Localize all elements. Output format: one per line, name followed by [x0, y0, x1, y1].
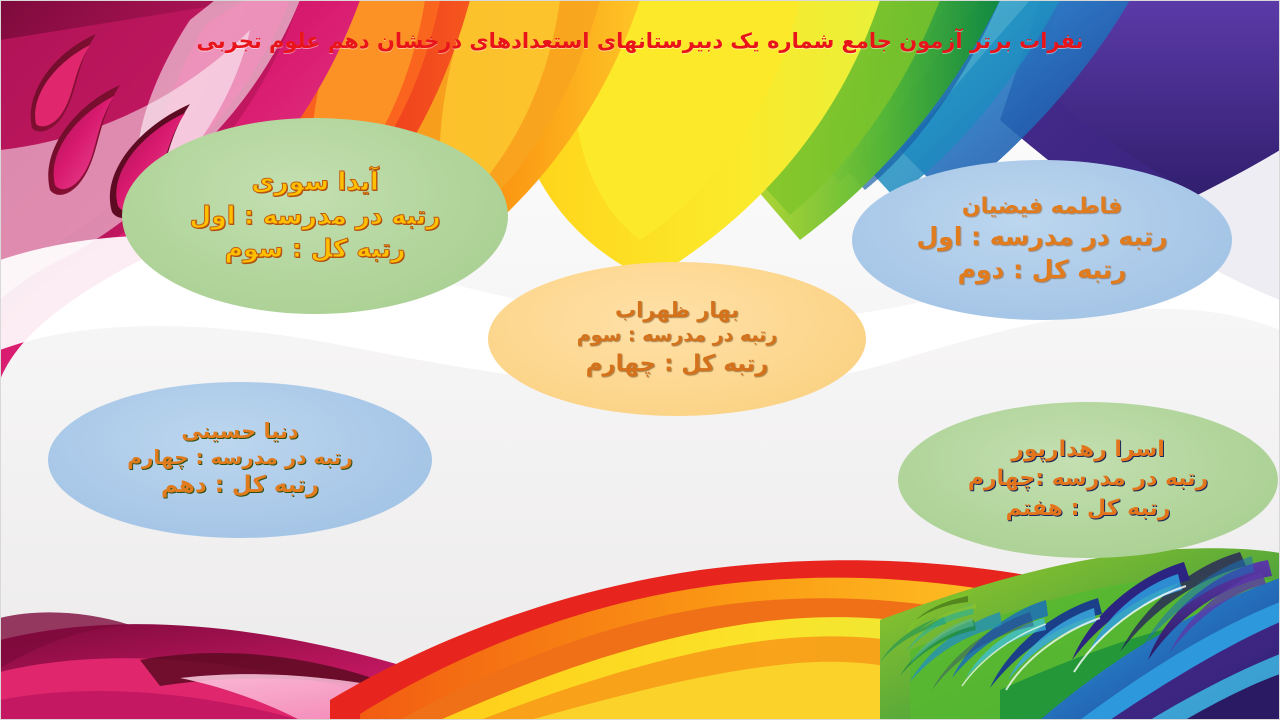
student-name: فاطمه فیضیان — [962, 194, 1122, 219]
student-total-rank: رتبه کل : چهارم — [586, 349, 769, 380]
student-total-rank: رتبه کل : سوم — [225, 232, 406, 265]
student-name: دنیا حسینی — [181, 419, 298, 443]
student-school-rank: رتبه در مدرسه : اول — [916, 221, 1167, 254]
student-card-fatemeh[interactable]: فاطمه فیضیان رتبه در مدرسه : اول رتبه کل… — [852, 160, 1232, 320]
student-card-asra[interactable]: اسرا رهدارپور رتبه در مدرسه :چهارم رتبه … — [898, 402, 1278, 558]
student-card-bahar[interactable]: بهار ظهراب رتبه در مدرسه : سوم رتبه کل :… — [488, 262, 866, 416]
student-card-aida[interactable]: آیدا سوری رتبه در مدرسه : اول رتبه کل : … — [122, 118, 508, 314]
student-school-rank: رتبه در مدرسه : اول — [189, 199, 440, 232]
student-total-rank: رتبه کل : دوم — [958, 254, 1127, 287]
student-school-rank: رتبه در مدرسه :چهارم — [968, 464, 1208, 493]
student-school-rank: رتبه در مدرسه : چهارم — [127, 444, 353, 471]
slide-canvas: نفرات برتر آزمون جامع شماره یک دبیرستانه… — [0, 0, 1280, 720]
slide-title: نفرات برتر آزمون جامع شماره یک دبیرستانه… — [0, 28, 1280, 54]
student-school-rank: رتبه در مدرسه : سوم — [577, 323, 778, 348]
student-name: بهار ظهراب — [615, 298, 739, 322]
student-name: آیدا سوری — [251, 167, 378, 196]
student-total-rank: رتبه کل : دهم — [161, 470, 319, 501]
student-name: اسرا رهدارپور — [1011, 437, 1165, 462]
student-total-rank: رتبه کل : هفتم — [1006, 494, 1171, 523]
student-card-donya[interactable]: دنیا حسینی رتبه در مدرسه : چهارم رتبه کل… — [48, 382, 432, 538]
